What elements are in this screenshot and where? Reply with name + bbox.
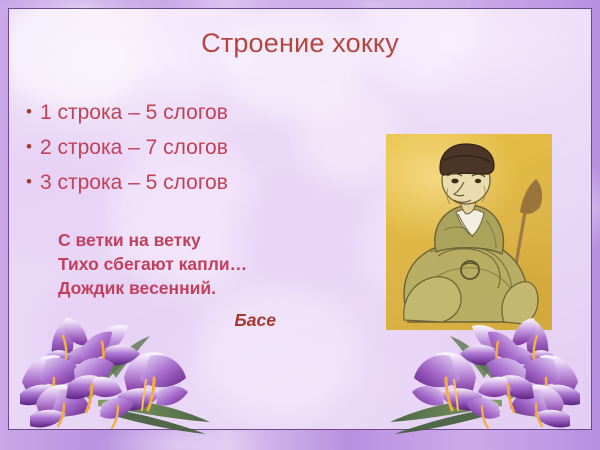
crocus-flowers-left (6, 308, 220, 436)
basho-figure-icon (386, 134, 552, 330)
list-item-label: 2 строка – 7 слогов (40, 136, 228, 160)
slide-content: Строение хокку • 1 строка – 5 слогов • 2… (0, 0, 600, 450)
crocus-flowers-right (380, 308, 594, 436)
list-item-label: 3 строка – 5 слогов (40, 171, 228, 195)
list-item: • 3 строка – 5 слогов (26, 171, 228, 206)
list-item: • 2 строка – 7 слогов (26, 136, 228, 171)
syllable-structure-list: • 1 строка – 5 слогов • 2 строка – 7 сло… (26, 101, 228, 206)
haiku-poem: С ветки на ветку Тихо сбегают капли… Дож… (58, 228, 247, 300)
list-item-label: 1 строка – 5 слогов (40, 101, 228, 125)
bullet-icon: • (26, 173, 40, 190)
haiku-line: Тихо сбегают капли… (58, 252, 247, 276)
bullet-icon: • (26, 103, 40, 120)
slide: Строение хокку • 1 строка – 5 слогов • 2… (0, 0, 600, 450)
basho-portrait-image (386, 134, 552, 330)
haiku-line: С ветки на ветку (58, 228, 247, 252)
crocus-cluster-icon (6, 308, 220, 436)
page-title: Строение хокку (0, 28, 600, 59)
crocus-cluster-icon (380, 308, 594, 436)
list-item: • 1 строка – 5 слогов (26, 101, 228, 136)
bullet-icon: • (26, 138, 40, 155)
haiku-line: Дождик весенний. (58, 276, 247, 300)
